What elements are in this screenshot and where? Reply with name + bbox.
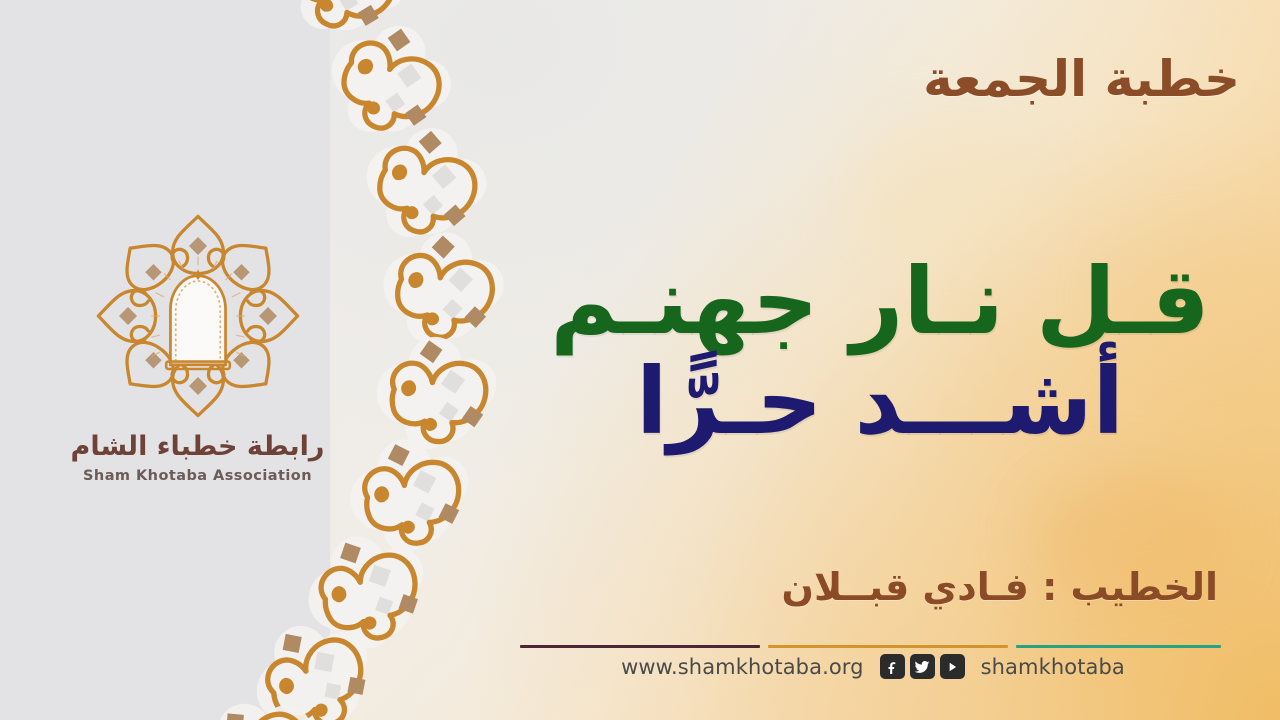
sham-khotaba-mihrab-star-logo [92, 210, 304, 422]
association-logo-block: رابطة خطباء الشام Sham Khotaba Associati… [60, 210, 335, 484]
sermon-title-line-1: قـل نـار جهنـم [520, 255, 1240, 349]
sermon-title: قـل نـار جهنـم أشـــد حـرًّا [520, 255, 1240, 449]
logo-name-arabic: رابطة خطباء الشام [60, 432, 335, 462]
social-handle[interactable]: shamkhotaba [981, 655, 1125, 679]
divider-segment-maroon [520, 645, 760, 648]
logo-name-english: Sham Khotaba Association [60, 468, 335, 484]
youtube-icon[interactable] [940, 654, 965, 679]
footer-divider-rule [520, 644, 1226, 648]
divider-segment-teal [1016, 645, 1221, 648]
facebook-icon[interactable] [880, 654, 905, 679]
footer-content-row: www.shamkhotaba.org [520, 654, 1226, 679]
social-links-group [880, 654, 965, 679]
twitter-icon[interactable] [910, 654, 935, 679]
website-url[interactable]: www.shamkhotaba.org [621, 655, 864, 679]
khutbah-poster: رابطة خطباء الشام Sham Khotaba Associati… [0, 0, 1280, 720]
divider-segment-orange [768, 645, 1008, 648]
speaker-name-label: الخطيب : فـادي قبــلان [782, 565, 1218, 609]
khutbah-header-label: خطبة الجمعة [923, 50, 1240, 108]
sermon-title-line-2: أشـــد حـرًّا [520, 355, 1240, 449]
footer: www.shamkhotaba.org [520, 636, 1226, 696]
